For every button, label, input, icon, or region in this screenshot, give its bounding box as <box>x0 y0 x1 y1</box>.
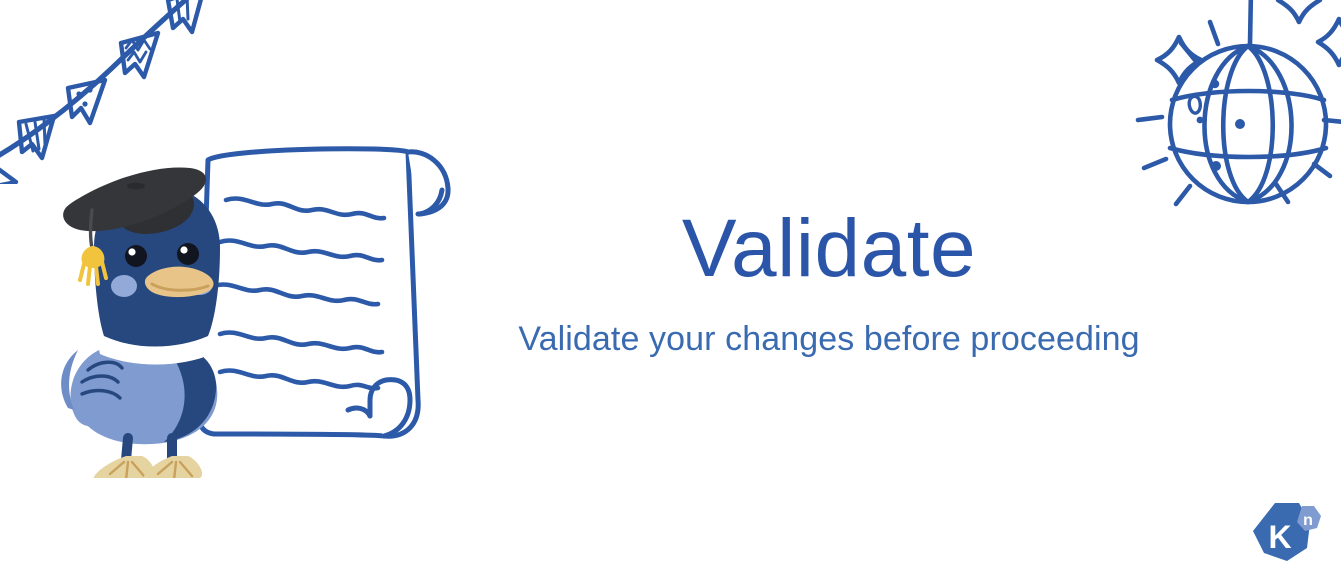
logo-letter-k: K <box>1268 519 1291 555</box>
discoball-decoration <box>1118 0 1341 228</box>
graduating-bird-with-scroll-illustration <box>48 138 468 478</box>
page-title: Validate <box>469 206 1189 293</box>
logo-badge-letter-n: n <box>1303 512 1313 529</box>
validate-screen: Validate Validate your changes before pr… <box>0 0 1341 585</box>
kn-logo: K n <box>1249 500 1323 570</box>
bird-mascot <box>61 167 220 478</box>
page-subtitle: Validate your changes before proceeding <box>469 293 1189 360</box>
scroll-document <box>199 149 448 436</box>
text-block: Validate Validate your changes before pr… <box>469 206 1189 360</box>
